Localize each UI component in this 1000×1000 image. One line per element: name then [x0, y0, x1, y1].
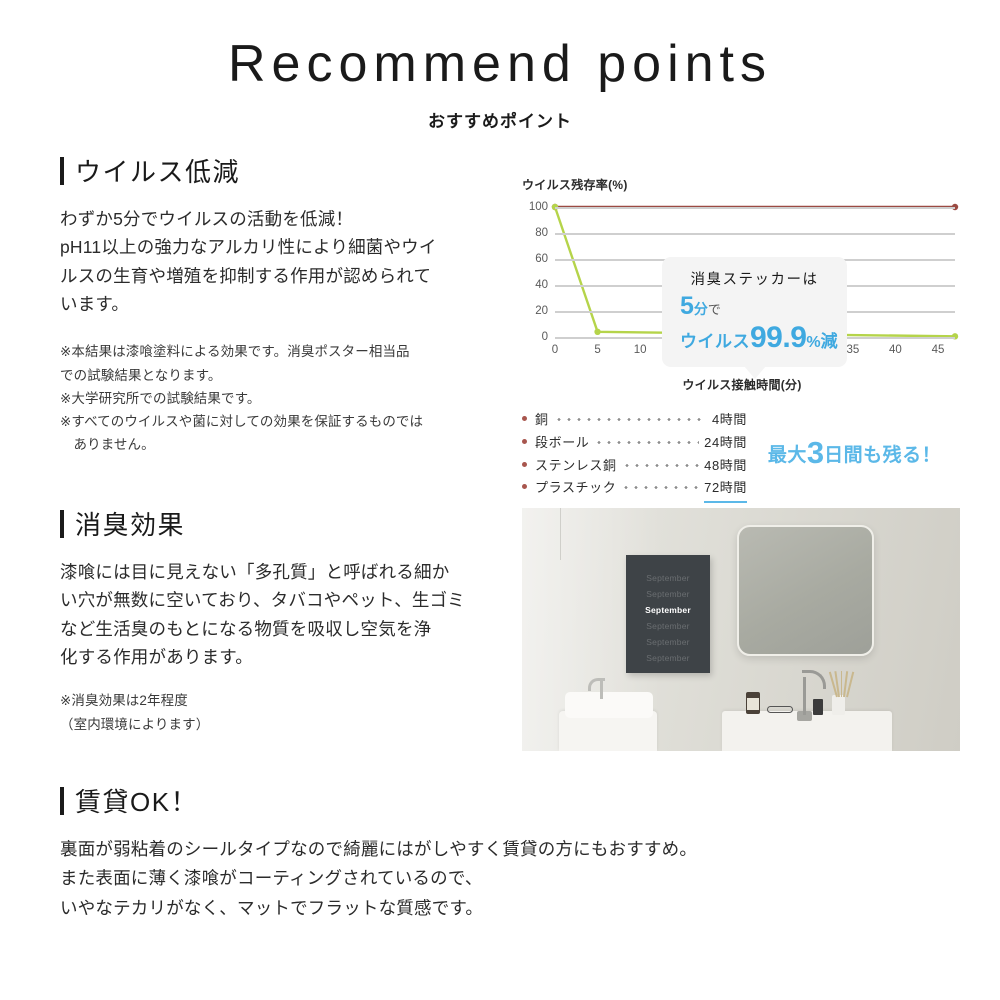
legend-item: 銅4時間 [522, 409, 747, 432]
page-header: Recommend points おすすめポイント [0, 0, 1000, 132]
photo-perfume-bottle [813, 699, 823, 715]
section-body: 漆喰には目に見えない「多孔質」と呼ばれる細か い穴が無数に空いており、タバコやペ… [60, 558, 515, 671]
photo-september-poster: SeptemberSeptemberSeptemberSeptemberSept… [626, 555, 710, 673]
legend-marker-dot [522, 439, 527, 444]
photo-toilet-handwash-basin [565, 692, 653, 718]
chart-x-tick: 45 [932, 344, 945, 356]
tag-prefix: 最大 [768, 440, 807, 467]
legend-item: ステンレス銅48時間 [522, 455, 747, 478]
callout-line-3: ウイルス99.9%減 [672, 321, 837, 355]
legend-item-label: 段ボール [535, 432, 589, 455]
legend-item-label: プラスチック [535, 477, 616, 500]
chart-y-tick: 60 [535, 253, 555, 265]
page-title: Recommend points [0, 36, 1000, 93]
note-line: ※大学研究所での試験結果です。 [60, 387, 515, 410]
photo-bottle-label [747, 698, 759, 710]
poster-text-line: September [626, 650, 710, 666]
chart-x-tick: 40 [889, 344, 902, 356]
body-line: 漆喰には目に見えない「多孔質」と呼ばれる細か [60, 558, 515, 586]
note-line: での試験結果となります。 [60, 364, 515, 387]
callout-percent-sign: % [806, 334, 820, 351]
legend-item-value: 24時間 [704, 432, 747, 455]
legend-item-value: 48時間 [704, 455, 747, 478]
note-line: ※消臭効果は2年程度 [60, 689, 515, 712]
legend-leader-dots [594, 441, 699, 444]
virus-survival-chart: ウイルス残存率(%) 10080604020005101520253035404… [522, 176, 962, 503]
chart-gridline [555, 207, 955, 209]
legend-item-label: ステンレス銅 [535, 455, 617, 478]
callout-line-1: 消臭ステッカーは [672, 268, 837, 289]
body-line: ルスの生育や増殖を抑制する作用が認められて [60, 262, 515, 290]
chart-y-tick: 20 [535, 305, 555, 317]
heading-accent-bar [60, 787, 64, 815]
note-line: ありません。 [60, 433, 515, 456]
note-line: ※すべてのウイルスや菌に対しての効果を保証するものでは [60, 410, 515, 433]
reed-stick [841, 671, 843, 697]
legend-item-label: 銅 [535, 409, 549, 432]
chart-plot-area: 100806040200051015202530354045 消臭ステッカーは … [522, 201, 962, 346]
tag-number: 3 [807, 435, 824, 471]
section-title: 消臭効果 [75, 505, 185, 542]
body-line: います。 [60, 290, 515, 318]
bathroom-photo-container: SeptemberSeptemberSeptemberSeptemberSept… [522, 508, 962, 751]
body-line: い穴が無数に空いており、タバコやペット、生ゴミ [60, 586, 515, 614]
callout-reduce-word: 減 [821, 332, 838, 351]
legend-item-value: 4時間 [712, 409, 747, 432]
photo-reed-diffuser [832, 695, 845, 715]
section-body: 裏面が弱粘着のシールタイプなので綺麗にはがしやすく賃貸の方にもおすすめ。 また表… [60, 835, 940, 923]
chart-y-tick: 0 [542, 331, 555, 343]
callout-virus-word: ウイルス [680, 332, 750, 351]
photo-eyeglasses [767, 706, 793, 713]
body-line: 化する作用があります。 [60, 643, 515, 671]
section-deodorizing: 消臭効果 漆喰には目に見えない「多孔質」と呼ばれる細か い穴が無数に空いており、… [60, 505, 515, 736]
bathroom-vanity-photo: SeptemberSeptemberSeptemberSeptemberSept… [522, 508, 960, 751]
section-virus-reduction: ウイルス低減 わずか5分でウイルスの活動を低減！ pH11以上の強力なアルカリ性… [60, 152, 515, 456]
section-title: 賃貸OK！ [75, 782, 198, 819]
photo-wall-seam [560, 508, 561, 560]
callout-line-2: 5分で [672, 292, 837, 321]
poster-text-line: September [626, 570, 710, 586]
chart-y-tick: 80 [535, 227, 555, 239]
photo-faucet [803, 677, 806, 715]
legend-marker-dot [522, 484, 527, 489]
body-line: いやなテカリがなく、マットでフラットな質感です。 [60, 894, 940, 923]
callout-percent-number: 99.9 [750, 321, 806, 354]
photo-toilet-faucet [600, 681, 603, 699]
note-line: ※本結果は漆喰塗料による効果です。消臭ポスター相当品 [60, 340, 515, 363]
body-line: わずか5分でウイルスの活動を低減！ [60, 205, 515, 233]
body-line: pH11以上の強力なアルカリ性により細菌やウイ [60, 233, 515, 261]
legend-leader-dots [554, 418, 707, 421]
legend-item-value: 72時間 [704, 477, 747, 503]
legend-item: プラスチック72時間 [522, 477, 747, 503]
section-title: ウイルス低減 [75, 152, 240, 189]
section-notes: ※本結果は漆喰塗料による効果です。消臭ポスター相当品 での試験結果となります。 … [60, 340, 515, 456]
body-line: など生活臭のもとになる物質を吸収し空気を浄 [60, 615, 515, 643]
section-body: わずか5分でウイルスの活動を低減！ pH11以上の強力なアルカリ性により細菌やウ… [60, 205, 515, 318]
legend-highlight-tag: 最大 3 日間も残る！ [747, 409, 962, 471]
poster-text-line: September [626, 586, 710, 602]
callout-minutes-number: 5 [680, 292, 694, 320]
chart-legend: 銅4時間段ボール24時間ステンレス銅48時間プラスチック72時間 最大 3 日間… [522, 409, 962, 503]
photo-bottle [746, 692, 760, 714]
page-subtitle: おすすめポイント [0, 107, 1000, 132]
section-notes: ※消臭効果は2年程度 （室内環境によります） [60, 689, 515, 735]
section-heading: 消臭効果 [60, 505, 515, 542]
note-line: （室内環境によります） [60, 713, 515, 736]
tag-suffix: 日間も残る！ [824, 440, 941, 467]
chart-y-axis-label: ウイルス残存率(%) [522, 176, 962, 193]
body-line: また表面に薄く漆喰がコーティングされているので、 [60, 864, 940, 893]
chart-x-tick: 5 [594, 344, 600, 356]
photo-reed-sticks [834, 671, 848, 697]
chart-y-tick: 40 [535, 279, 555, 291]
body-line: 裏面が弱粘着のシールタイプなので綺麗にはがしやすく賃貸の方にもおすすめ。 [60, 835, 940, 864]
legend-marker-dot [522, 462, 527, 467]
chart-callout-bubble: 消臭ステッカーは 5分で ウイルス99.9%減 [662, 257, 847, 367]
chart-x-tick: 35 [846, 344, 859, 356]
legend-leader-dots [621, 486, 699, 489]
legend-leader-dots [622, 464, 700, 467]
chart-x-axis-label: ウイルス接触時間(分) [522, 376, 962, 393]
callout-minutes-unit: 分 [694, 301, 708, 317]
page-root: Recommend points おすすめポイント ウイルス低減 わずか5分でウ… [0, 0, 1000, 1000]
chart-data-point [594, 329, 600, 335]
photo-mirror [737, 525, 874, 656]
poster-text-line: September [626, 634, 710, 650]
section-rental-ok: 賃貸OK！ 裏面が弱粘着のシールタイプなので綺麗にはがしやすく賃貸の方にもおすす… [60, 782, 940, 923]
chart-gridline [555, 233, 955, 235]
legend-marker-dot [522, 416, 527, 421]
poster-text-line: September [626, 602, 710, 618]
chart-x-tick: 10 [634, 344, 647, 356]
chart-y-tick: 100 [529, 201, 555, 213]
legend-item: 段ボール24時間 [522, 432, 747, 455]
section-heading: 賃貸OK！ [60, 782, 940, 819]
heading-accent-bar [60, 157, 64, 185]
section-heading: ウイルス低減 [60, 152, 515, 189]
legend-list: 銅4時間段ボール24時間ステンレス銅48時間プラスチック72時間 [522, 409, 747, 503]
chart-x-tick: 0 [552, 344, 558, 356]
heading-accent-bar [60, 510, 64, 538]
callout-minutes-tail: で [708, 302, 721, 317]
poster-text-line: September [626, 618, 710, 634]
